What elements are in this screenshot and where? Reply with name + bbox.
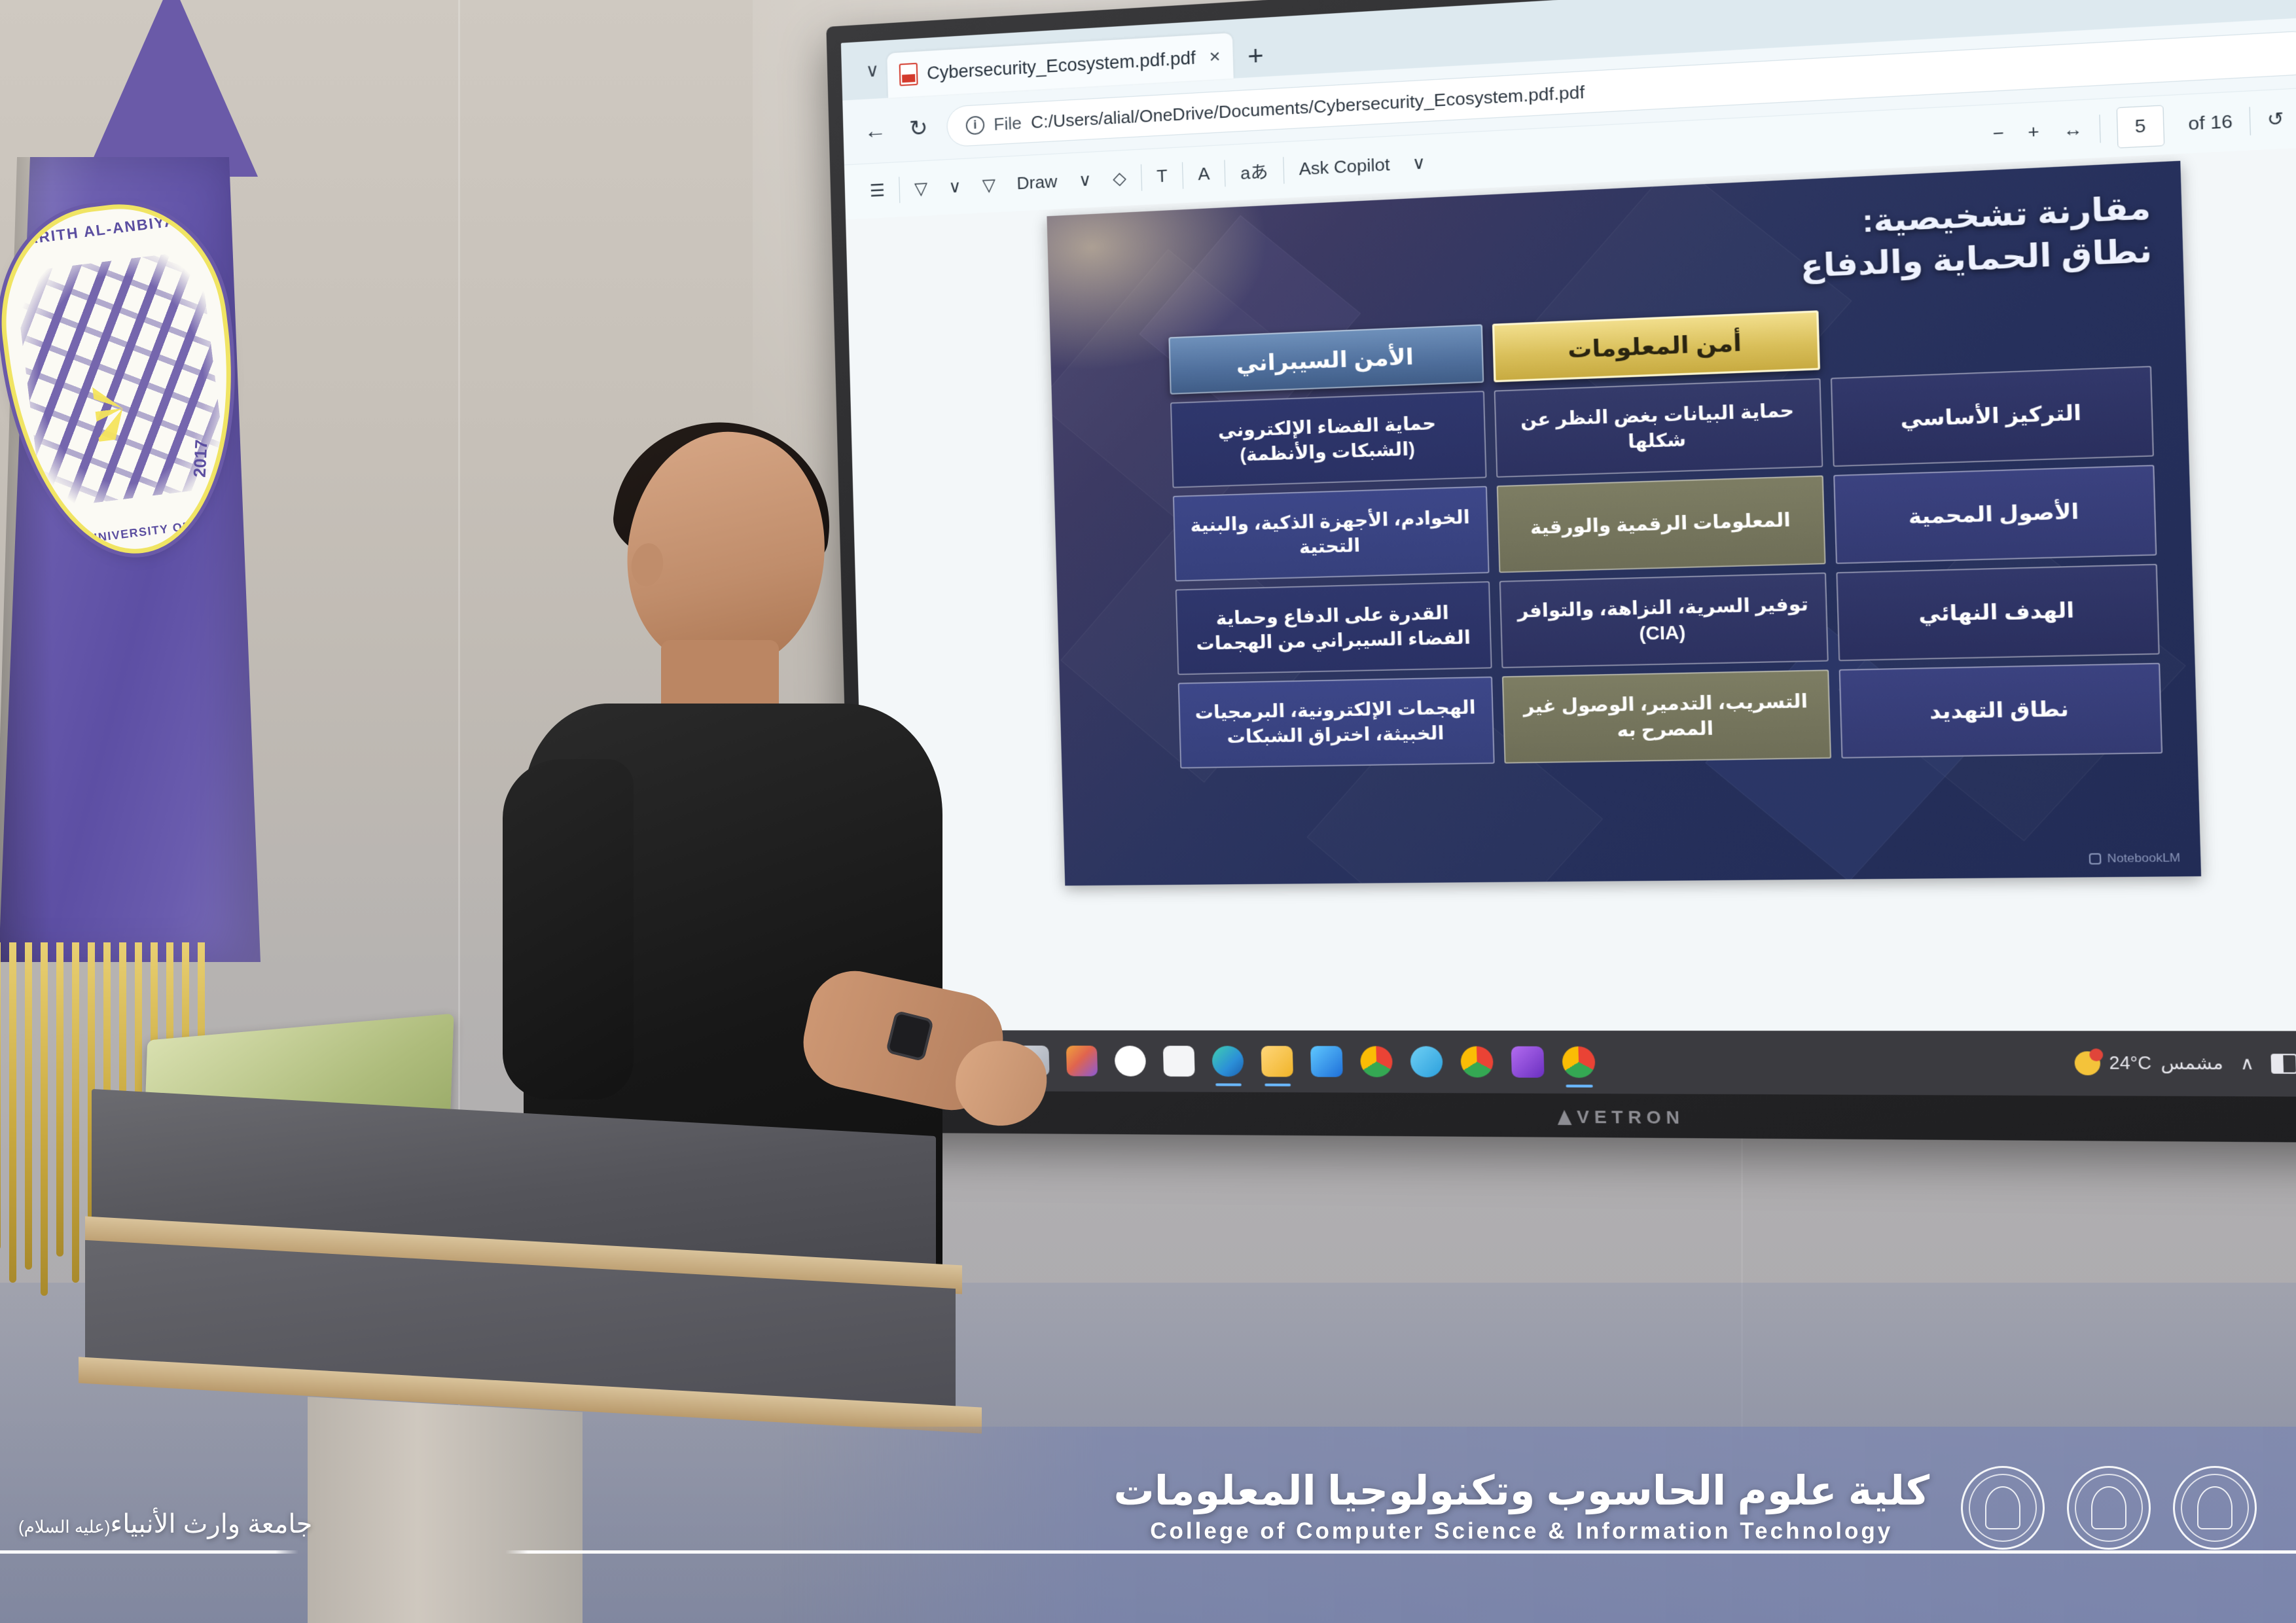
brand-name: VETRON — [1577, 1107, 1685, 1128]
table-cell: حماية البيانات بغض النظر عن شكلها — [1494, 378, 1822, 478]
display-brand-logo: VETRON — [1557, 1107, 1685, 1129]
notebooklm-watermark: NotebookLM — [2089, 851, 2181, 866]
page-count-label: of 16 — [2176, 110, 2245, 135]
chrome-beta-icon[interactable] — [1460, 1046, 1494, 1078]
table-column-information-security: أمن المعلومات حماية البيانات بغض النظر ع… — [1492, 310, 1831, 763]
ask-copilot-button[interactable]: Ask Copilot — [1287, 154, 1401, 181]
toolbar-divider — [2249, 107, 2250, 135]
system-tray: 24°C مشمس ∧ — [2074, 1051, 2296, 1076]
fit-page-icon[interactable]: ↔ — [2051, 118, 2096, 142]
university-name-label: جامعة وارث الأنبياء(عليه السلام) — [18, 1509, 312, 1539]
interactive-display: VETRON ∨ Cybersecurity_Ecosystem.pdf.pdf… — [826, 0, 2296, 1143]
display-screen: ∨ Cybersecurity_Ecosystem.pdf.pdf × + ← … — [841, 0, 2296, 1097]
reload-icon[interactable]: ↻ — [903, 115, 934, 143]
copilot-icon[interactable] — [1066, 1046, 1098, 1077]
erase-icon[interactable]: ◇ — [1102, 167, 1137, 189]
copilot-chevron-down-icon[interactable]: ∨ — [1401, 152, 1437, 175]
page-number-input[interactable]: 5 — [2116, 105, 2164, 148]
visual-studio-code-icon[interactable] — [1511, 1046, 1545, 1078]
zoom-in-button[interactable]: + — [2016, 120, 2052, 143]
rotate-icon[interactable]: ↺ — [2254, 107, 2296, 132]
bottom-banner: جامعة وارث الأنبياء(عليه السلام) كلية عل… — [0, 1427, 2296, 1623]
table-cell: التسريب، التدمير، الوصول غير المصرح به — [1501, 669, 1831, 763]
back-icon[interactable]: ← — [860, 117, 891, 145]
sunny-weather-icon — [2074, 1051, 2100, 1075]
ministry-of-higher-education-icon — [2173, 1466, 2257, 1550]
table-cell: القدرة على الدفاع وحماية الفضاء السيبران… — [1175, 581, 1492, 675]
file-explorer-icon[interactable] — [1261, 1046, 1293, 1077]
url-scheme-label: File — [994, 113, 1022, 135]
url-text: C:/Users/alial/OneDrive/Documents/Cybers… — [1031, 81, 1585, 132]
seal-year: 2017 — [190, 439, 212, 478]
watermark-text: NotebookLM — [2107, 851, 2180, 866]
table-row-label: الأصول المحمية — [1833, 465, 2157, 563]
draw-label[interactable]: Draw — [1006, 171, 1068, 194]
information-security-header: أمن المعلومات — [1492, 310, 1820, 382]
college-name-english: College of Computer Science & Informatio… — [1113, 1518, 1929, 1544]
draw-chevron-down-icon[interactable]: ∨ — [1067, 169, 1102, 191]
highlight-chevron-down-icon[interactable]: ∨ — [938, 175, 972, 198]
table-cell: توفير السرية، النزاهة، والتوافر (CIA) — [1499, 573, 1828, 668]
table-row-label: التركيز الأساسي — [1830, 366, 2153, 467]
site-info-icon[interactable]: i — [965, 116, 984, 135]
college-name-arabic: كلية علوم الحاسوب وتكنولوجيا المعلومات — [1113, 1468, 1929, 1514]
cyber-security-header: الأمن السيبراني — [1168, 324, 1484, 394]
table-of-contents-icon[interactable]: ☰ — [859, 180, 895, 202]
university-seal-icon — [2067, 1466, 2151, 1550]
close-icon[interactable]: × — [1209, 46, 1221, 68]
telegram-icon[interactable] — [1410, 1046, 1443, 1078]
pdf-page: مقارنة تشخيصية: نطاق الحماية والدفاع الت… — [1047, 161, 2201, 886]
read-aloud-icon[interactable]: A — [1187, 163, 1221, 185]
toolbar-spacer — [1437, 135, 1981, 162]
weather-temperature: 24°C — [2109, 1053, 2152, 1073]
taskbar-app-icons — [1018, 1046, 1596, 1078]
table-cell: الهجمات الإلكترونية، البرمجيات الخبيثة، … — [1177, 677, 1494, 768]
table-cell: المعلومات الرقمية والورقية — [1496, 475, 1825, 573]
toolbar-divider — [1225, 160, 1226, 187]
draw-icon[interactable]: ▽ — [971, 174, 1006, 196]
tab-search-chevron-icon[interactable]: ∨ — [857, 41, 888, 100]
pdf-viewport[interactable]: مقارنة تشخيصية: نطاق الحماية والدفاع الت… — [846, 142, 2296, 1031]
label-column-header — [1828, 296, 2150, 369]
add-text-icon[interactable]: T — [1145, 165, 1178, 187]
slide-title: مقارنة تشخيصية: نطاق الحماية والدفاع — [1799, 187, 2153, 287]
toolbar-divider — [899, 177, 901, 203]
tray-chevron-up-icon[interactable]: ∧ — [2240, 1053, 2254, 1075]
university-crest-icon — [1961, 1466, 2045, 1550]
browser-window: ∨ Cybersecurity_Ecosystem.pdf.pdf × + ← … — [841, 0, 2296, 1097]
table-cell: حماية الفضاء الإلكتروني (الشبكات والأنظم… — [1170, 391, 1486, 488]
new-tab-button[interactable]: + — [1232, 40, 1280, 78]
android-studio-icon[interactable] — [1115, 1046, 1147, 1077]
toolbar-divider — [2099, 115, 2100, 143]
comparison-table: التركيز الأساسي الأصول المحمية الهدف الن… — [1126, 296, 2162, 769]
weather-widget[interactable]: 24°C مشمس — [2074, 1051, 2223, 1075]
presenter-sleeve — [503, 759, 634, 1099]
battery-icon[interactable] — [2270, 1054, 2296, 1074]
university-name-honorific: (عليه السلام) — [18, 1517, 110, 1537]
table-cell: الخوادم، الأجهزة الذكية، والبنية التحتية — [1173, 486, 1489, 582]
notebooklm-icon — [2089, 853, 2102, 865]
brand-triangle-icon — [1557, 1109, 1571, 1124]
college-name-block: كلية علوم الحاسوب وتكنولوجيا المعلومات C… — [1113, 1468, 1929, 1544]
banner-logo-group — [1961, 1466, 2257, 1550]
toolbar-divider — [1141, 164, 1142, 191]
flag-top-cone — [85, 0, 258, 177]
chrome-canary-icon[interactable] — [1562, 1046, 1595, 1078]
table-row-label: نطاق التهديد — [1839, 663, 2162, 758]
translate-icon[interactable]: aあ — [1229, 158, 1280, 185]
banner-divider — [0, 1550, 2296, 1554]
microsoft-edge-icon[interactable] — [1211, 1046, 1244, 1077]
highlight-icon[interactable]: ▽ — [904, 177, 939, 200]
zoom-out-button[interactable]: − — [1981, 122, 2017, 145]
tab-title: Cybersecurity_Ecosystem.pdf.pdf — [927, 47, 1196, 83]
chrome-icon[interactable] — [1360, 1046, 1393, 1077]
toolbar-divider — [1182, 162, 1183, 188]
outlook-icon[interactable] — [1310, 1046, 1343, 1077]
table-row-label: الهدف النهائي — [1836, 564, 2159, 662]
weather-condition: مشمس — [2161, 1053, 2224, 1075]
toolbar-divider — [1283, 156, 1284, 183]
microsoft-store-icon[interactable] — [1163, 1046, 1195, 1077]
university-name-main: جامعة وارث الأنبياء — [110, 1510, 312, 1539]
seal-rays — [81, 276, 235, 442]
table-column-labels: التركيز الأساسي الأصول المحمية الهدف الن… — [1828, 296, 2162, 758]
table-column-cyber-security: الأمن السيبراني حماية الفضاء الإلكتروني … — [1168, 324, 1494, 768]
windows-taskbar: 24°C مشمس ∧ — [867, 1030, 2296, 1097]
pdf-file-icon — [899, 63, 918, 86]
